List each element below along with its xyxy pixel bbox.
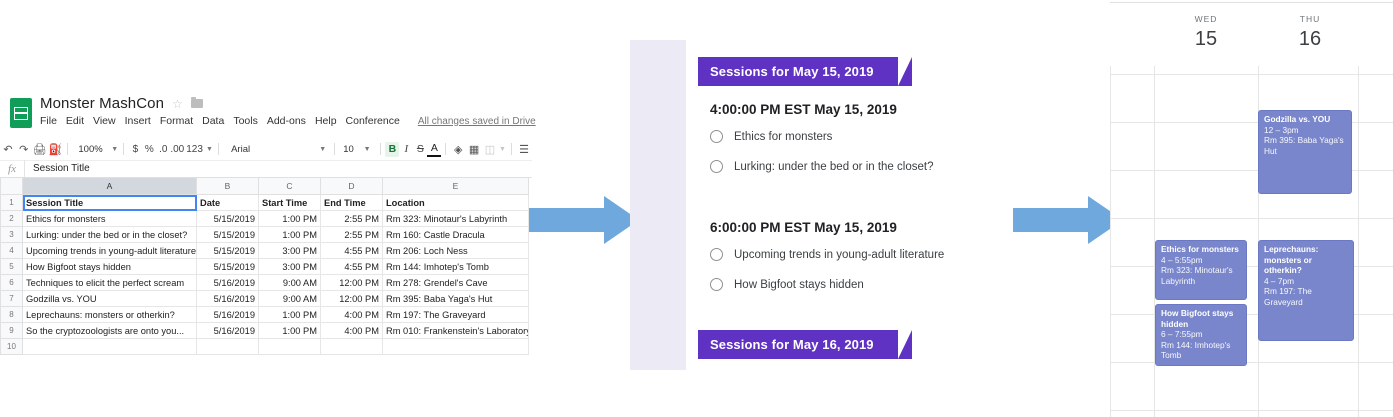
cell-b6[interactable]: 5/16/2019: [197, 275, 259, 291]
table-row: 4 Upcoming trends in young-adult literat…: [1, 243, 529, 259]
event-time: 4 – 7pm: [1264, 276, 1349, 287]
cell-a3[interactable]: Lurking: under the bed or in the closet?: [23, 227, 197, 243]
cell-d8[interactable]: 4:00 PM: [321, 307, 383, 323]
cell-d1[interactable]: End Time: [321, 195, 383, 211]
more-formats-button[interactable]: 123: [184, 140, 205, 158]
toolbar-divider: [380, 143, 381, 155]
document-title-row: Monster MashCon ☆: [40, 95, 536, 112]
table-row: 3 Lurking: under the bed or in the close…: [1, 227, 529, 243]
session-option-how-bigfoot-stays-hidden[interactable]: How Bigfoot stays hidden: [710, 278, 944, 291]
formula-input[interactable]: Session Title: [25, 163, 90, 174]
banner-title: Sessions for May 15, 2019: [698, 64, 874, 79]
cell-e6[interactable]: Rm 278: Grendel's Cave: [383, 275, 529, 291]
menu-item-file[interactable]: File: [40, 115, 57, 127]
strikethrough-button[interactable]: S: [413, 140, 427, 158]
cell-d10[interactable]: [321, 339, 383, 355]
cell-e9[interactable]: Rm 010: Frankenstein's Laboratory: [383, 323, 529, 339]
row-header[interactable]: 6: [1, 275, 23, 291]
percent-format-button[interactable]: %: [142, 140, 156, 158]
menu-item-conference[interactable]: Conference: [346, 115, 400, 127]
cell-c9[interactable]: 1:00 PM: [259, 323, 321, 339]
formats-chevron-down-icon[interactable]: ▼: [205, 140, 214, 158]
row-header[interactable]: 7: [1, 291, 23, 307]
sheets-title-block: Monster MashCon ☆ File Edit View Insert …: [40, 95, 536, 127]
table-row: 7 Godzilla vs. YOU 5/16/2019 9:00 AM 12:…: [1, 291, 529, 307]
calendar-gridline: [1110, 66, 1111, 417]
cell-c7[interactable]: 9:00 AM: [259, 291, 321, 307]
font-family-select[interactable]: Arial: [223, 140, 283, 158]
radio-button-icon[interactable]: [710, 160, 723, 173]
menu-item-tools[interactable]: Tools: [233, 115, 258, 127]
session-option-ethics-for-monsters[interactable]: Ethics for monsters: [710, 130, 933, 143]
merge-cells-icon[interactable]: ◫: [482, 140, 498, 158]
cell-d7[interactable]: 12:00 PM: [321, 291, 383, 307]
row-header[interactable]: 3: [1, 227, 23, 243]
star-icon[interactable]: ☆: [172, 98, 183, 110]
formula-bar: fx Session Title: [0, 160, 532, 178]
toolbar-divider: [445, 143, 446, 155]
sheets-title-bar: Monster MashCon ☆ File Edit View Insert …: [0, 92, 532, 138]
table-row: 8 Leprechauns: monsters or otherkin? 5/1…: [1, 307, 529, 323]
menu-item-edit[interactable]: Edit: [66, 115, 84, 127]
cell-c5[interactable]: 3:00 PM: [259, 259, 321, 275]
sessions-page-panel: Sessions for May 15, 2019 4:00:00 PM EST…: [630, 40, 960, 370]
cell-b10[interactable]: [197, 339, 259, 355]
toolbar-divider: [334, 143, 335, 155]
redo-icon[interactable]: ↷: [16, 140, 32, 158]
toolbar-divider: [511, 143, 512, 155]
zoom-chevron-down-icon[interactable]: ▼: [110, 140, 119, 158]
toolbar-divider: [123, 143, 124, 155]
cell-b5[interactable]: 5/15/2019: [197, 259, 259, 275]
italic-button[interactable]: I: [399, 140, 413, 158]
event-title: Ethics for monsters: [1161, 244, 1242, 255]
row-header[interactable]: 2: [1, 211, 23, 227]
cell-d4[interactable]: 4:55 PM: [321, 243, 383, 259]
calendar-gridline: [1110, 362, 1393, 363]
column-header-row: A B C D E: [1, 178, 529, 195]
row-header[interactable]: 5: [1, 259, 23, 275]
row-header[interactable]: 9: [1, 323, 23, 339]
font-chevron-down-icon[interactable]: ▼: [283, 140, 330, 158]
cell-e2[interactable]: Rm 323: Minotaur's Labyrinth: [383, 211, 529, 227]
fill-color-icon[interactable]: ◈: [450, 140, 466, 158]
cell-e4[interactable]: Rm 206: Loch Ness: [383, 243, 529, 259]
cell-b9[interactable]: 5/16/2019: [197, 323, 259, 339]
cell-b2[interactable]: 5/15/2019: [197, 211, 259, 227]
cell-e5[interactable]: Rm 144: Imhotep's Tomb: [383, 259, 529, 275]
borders-icon[interactable]: ▦: [466, 140, 482, 158]
calendar-event-leprechauns[interactable]: Leprechauns: monsters or otherkin? 4 – 7…: [1258, 240, 1354, 341]
calendar-event-ethics-for-monsters[interactable]: Ethics for monsters 4 – 5:55pm Rm 323: M…: [1155, 240, 1247, 300]
option-label: Lurking: under the bed or in the closet?: [734, 161, 933, 173]
cell-c2[interactable]: 1:00 PM: [259, 211, 321, 227]
paint-format-icon[interactable]: ⛽: [48, 140, 64, 158]
slot-time-label: 6:00:00 PM EST May 15, 2019: [710, 220, 944, 235]
cell-c3[interactable]: 1:00 PM: [259, 227, 321, 243]
cell-b4[interactable]: 5/15/2019: [197, 243, 259, 259]
event-location: Rm 144: Imhotep's Tomb: [1161, 340, 1242, 361]
merge-chevron-down-icon[interactable]: ▼: [498, 140, 507, 158]
google-calendar-panel: [1110, 0, 1393, 417]
event-location: Rm 323: Minotaur's Labyrinth: [1161, 265, 1242, 286]
table-row: 5 How Bigfoot stays hidden 5/15/2019 3:0…: [1, 259, 529, 275]
calendar-grid: [1110, 0, 1393, 417]
event-time: 4 – 5:55pm: [1161, 255, 1242, 266]
table-row: 6 Techniques to elicit the perfect screa…: [1, 275, 529, 291]
calendar-gridline: [1110, 218, 1393, 219]
row-header[interactable]: 1: [1, 195, 23, 211]
cell-e10[interactable]: [383, 339, 529, 355]
table-row: 10: [1, 339, 529, 355]
align-icon[interactable]: ☰: [516, 140, 532, 158]
calendar-day-header-wed[interactable]: WED 15: [1154, 14, 1258, 50]
menu-item-help[interactable]: Help: [315, 115, 337, 127]
day-of-week-label: THU: [1258, 14, 1362, 24]
cell-d6[interactable]: 12:00 PM: [321, 275, 383, 291]
session-option-upcoming-trends[interactable]: Upcoming trends in young-adult literatur…: [710, 248, 944, 261]
cell-a2[interactable]: Ethics for monsters: [23, 211, 197, 227]
banner-sessions-may-16: Sessions for May 16, 2019: [698, 330, 898, 359]
day-number-label: 16: [1258, 28, 1362, 50]
session-slot-4pm: 4:00:00 PM EST May 15, 2019 Ethics for m…: [710, 102, 933, 190]
menu-item-addons[interactable]: Add-ons: [267, 115, 306, 127]
radio-button-icon[interactable]: [710, 130, 723, 143]
option-label: How Bigfoot stays hidden: [734, 279, 864, 291]
column-header-b[interactable]: B: [197, 178, 259, 195]
cell-e3[interactable]: Rm 160: Castle Dracula: [383, 227, 529, 243]
table-row: 1 Session Title Date Start Time End Time…: [1, 195, 529, 211]
bold-button[interactable]: B: [385, 142, 399, 157]
arrow-sessions-to-calendar: [1013, 196, 1123, 244]
calendar-event-godzilla-vs-you[interactable]: Godzilla vs. YOU 12 – 3pm Rm 395: Baba Y…: [1258, 110, 1352, 194]
day-number-label: 15: [1154, 28, 1258, 50]
event-time: 6 – 7:55pm: [1161, 329, 1242, 340]
calendar-gridline: [1110, 74, 1393, 75]
document-title[interactable]: Monster MashCon: [40, 95, 164, 112]
text-color-button[interactable]: A: [427, 142, 441, 157]
event-title: How Bigfoot stays hidden: [1161, 308, 1242, 329]
cell-c1[interactable]: Start Time: [259, 195, 321, 211]
cell-d3[interactable]: 2:55 PM: [321, 227, 383, 243]
sessions-sidebar: [630, 40, 686, 370]
column-header-c[interactable]: C: [259, 178, 321, 195]
cell-a9[interactable]: So the cryptozoologists are onto you...: [23, 323, 197, 339]
cell-d5[interactable]: 4:55 PM: [321, 259, 383, 275]
event-title: Leprechauns: monsters or otherkin?: [1264, 244, 1349, 276]
calendar-day-header-thu[interactable]: THU 16: [1258, 14, 1362, 50]
cell-c10[interactable]: [259, 339, 321, 355]
cell-b7[interactable]: 5/16/2019: [197, 291, 259, 307]
currency-format-button[interactable]: $: [128, 140, 142, 158]
cell-b8[interactable]: 5/16/2019: [197, 307, 259, 323]
calendar-event-how-bigfoot-stays-hidden[interactable]: How Bigfoot stays hidden 6 – 7:55pm Rm 1…: [1155, 304, 1247, 366]
column-header-e[interactable]: E: [383, 178, 529, 195]
sessions-content: Sessions for May 15, 2019 4:00:00 PM EST…: [686, 40, 960, 370]
google-sheets-panel: Monster MashCon ☆ File Edit View Insert …: [0, 92, 532, 318]
print-icon[interactable]: 🖨: [32, 140, 48, 158]
font-size-select[interactable]: 10: [339, 140, 358, 158]
day-of-week-label: WED: [1154, 14, 1258, 24]
row-header[interactable]: 10: [1, 339, 23, 355]
cell-e7[interactable]: Rm 395: Baba Yaga's Hut: [383, 291, 529, 307]
cell-a1[interactable]: Session Title: [23, 195, 197, 211]
font-size-chevron-down-icon[interactable]: ▼: [358, 140, 377, 158]
slot-time-label: 4:00:00 PM EST May 15, 2019: [710, 102, 933, 117]
radio-button-icon[interactable]: [710, 248, 723, 261]
cell-b1[interactable]: Date: [197, 195, 259, 211]
menu-item-view[interactable]: View: [93, 115, 116, 127]
option-label: Upcoming trends in young-adult literatur…: [734, 249, 944, 261]
cell-d9[interactable]: 4:00 PM: [321, 323, 383, 339]
sheets-logo-icon: [10, 98, 32, 128]
event-time: 12 – 3pm: [1264, 125, 1347, 136]
cell-a7[interactable]: Godzilla vs. YOU: [23, 291, 197, 307]
arrow-sheets-to-sessions: [529, 196, 639, 244]
sheets-toolbar: ↶ ↷ 🖨 ⛽ 100% ▼ $ % .0 .00 123 ▼ Arial ▼ …: [0, 138, 532, 161]
cell-c4[interactable]: 3:00 PM: [259, 243, 321, 259]
event-title: Godzilla vs. YOU: [1264, 114, 1347, 125]
banner-sessions-may-15: Sessions for May 15, 2019: [698, 57, 898, 86]
radio-button-icon[interactable]: [710, 278, 723, 291]
zoom-select[interactable]: 100%: [72, 140, 110, 158]
spreadsheet-grid: A B C D E 1 Session Title Date Start Tim…: [0, 177, 532, 355]
cell-e1[interactable]: Location: [383, 195, 529, 211]
option-label: Ethics for monsters: [734, 131, 832, 143]
column-header-a[interactable]: A: [23, 178, 197, 195]
cell-a10[interactable]: [23, 339, 197, 355]
cell-b3[interactable]: 5/15/2019: [197, 227, 259, 243]
event-location: Rm 197: The Graveyard: [1264, 286, 1349, 307]
row-header[interactable]: 8: [1, 307, 23, 323]
select-all-corner[interactable]: [1, 178, 23, 195]
toolbar-divider: [67, 143, 68, 155]
session-option-lurking[interactable]: Lurking: under the bed or in the closet?: [710, 160, 933, 173]
cell-a6[interactable]: Techniques to elicit the perfect scream: [23, 275, 197, 291]
cell-e8[interactable]: Rm 197: The Graveyard: [383, 307, 529, 323]
cell-a5[interactable]: How Bigfoot stays hidden: [23, 259, 197, 275]
banner-title: Sessions for May 16, 2019: [698, 337, 874, 352]
save-status-label[interactable]: All changes saved in Drive: [418, 116, 536, 127]
table-row: 2 Ethics for monsters 5/15/2019 1:00 PM …: [1, 211, 529, 227]
cell-d2[interactable]: 2:55 PM: [321, 211, 383, 227]
table-row: 9 So the cryptozoologists are onto you..…: [1, 323, 529, 339]
increase-decimal-button[interactable]: .00: [170, 140, 184, 158]
menu-item-data[interactable]: Data: [202, 115, 224, 127]
session-slot-6pm: 6:00:00 PM EST May 15, 2019 Upcoming tre…: [710, 220, 944, 308]
cell-c8[interactable]: 1:00 PM: [259, 307, 321, 323]
cell-c6[interactable]: 9:00 AM: [259, 275, 321, 291]
column-header-d[interactable]: D: [321, 178, 383, 195]
toolbar-divider: [218, 143, 219, 155]
calendar-gridline: [1358, 66, 1359, 417]
row-header[interactable]: 4: [1, 243, 23, 259]
event-location: Rm 395: Baba Yaga's Hut: [1264, 135, 1347, 156]
menu-bar: File Edit View Insert Format Data Tools …: [40, 115, 536, 127]
fx-icon: fx: [0, 160, 25, 177]
decrease-decimal-button[interactable]: .0: [156, 140, 170, 158]
undo-icon[interactable]: ↶: [0, 140, 16, 158]
cell-a4[interactable]: Upcoming trends in young-adult literatur…: [23, 243, 197, 259]
cell-a8[interactable]: Leprechauns: monsters or otherkin?: [23, 307, 197, 323]
calendar-gridline: [1110, 410, 1393, 411]
menu-item-format[interactable]: Format: [160, 115, 193, 127]
menu-item-insert[interactable]: Insert: [125, 115, 151, 127]
folder-icon[interactable]: [191, 99, 203, 108]
